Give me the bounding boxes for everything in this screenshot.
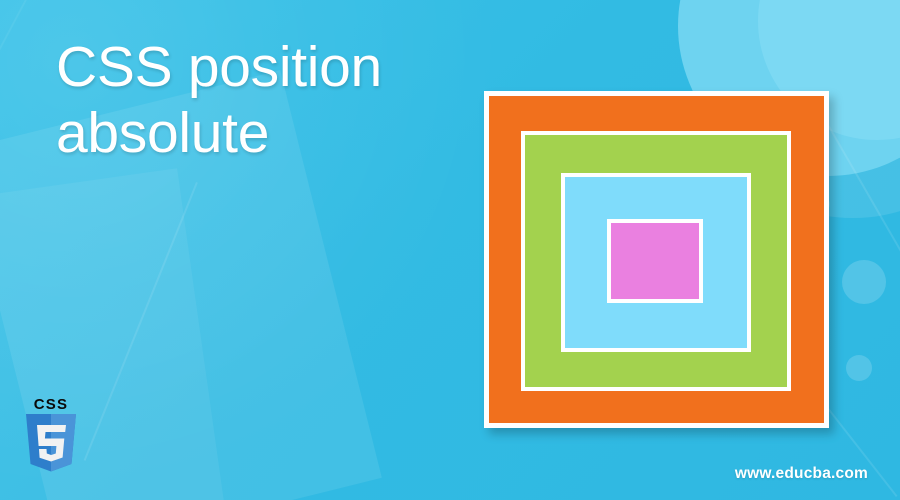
page-title: CSS position absolute [56,34,476,166]
css-wordmark-icon: CSS [34,396,68,413]
light-blue-box [561,173,751,352]
slide-canvas: CSS position absolute CSS www.educba.com [0,0,900,500]
svg-text:CSS: CSS [34,396,68,413]
site-url: www.educba.com [735,465,868,483]
outer-orange-box [484,91,829,428]
green-box [521,131,791,391]
decorative-circle [842,260,886,304]
css3-logo: CSS [20,392,82,476]
inner-pink-box [607,219,703,303]
decorative-circle [846,355,872,381]
shield-icon [26,414,76,472]
